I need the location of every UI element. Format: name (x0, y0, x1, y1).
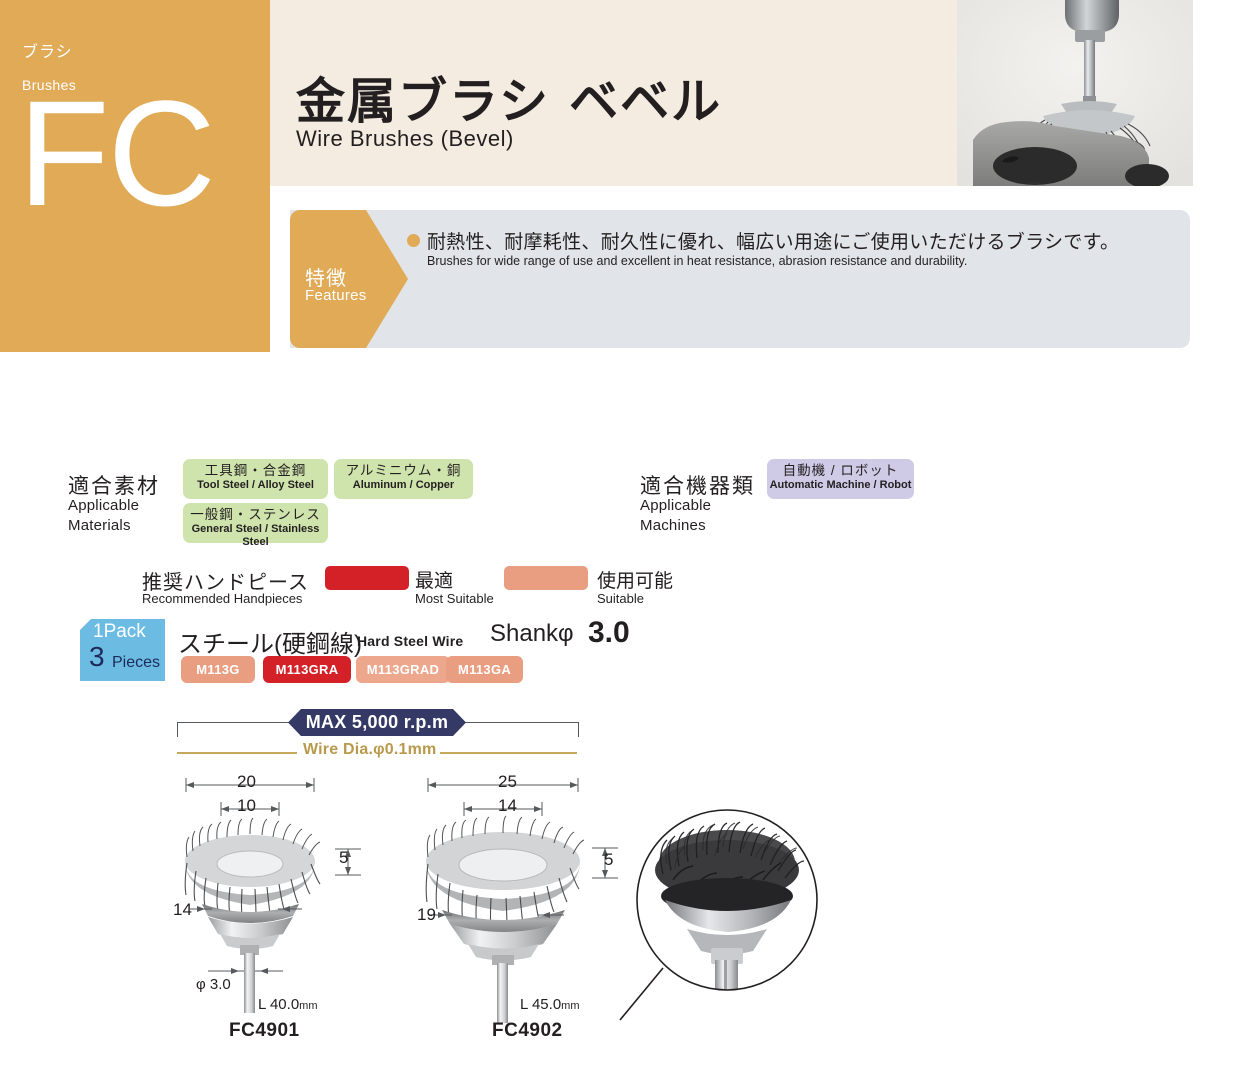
material-chip-en: Tool Steel / Alloy Steel (183, 479, 328, 492)
header-product-photo: ····· (957, 0, 1193, 186)
length-unit: mm (299, 1000, 317, 1012)
feature-text-jp: 耐熱性、耐摩耗性、耐久性に優れ、幅広い用途にご使用いただけるブラシです。 (427, 227, 1119, 254)
length-label: L (258, 996, 266, 1013)
dim-outer-diameter: 20 (237, 772, 256, 792)
legend-label-most-suitable-jp: 最適 (415, 566, 453, 593)
product-name-fc4901: FC4901 (229, 1020, 300, 1042)
product-diagram-fc4901 (160, 765, 390, 1025)
page-title-en: Wire Brushes (Bevel) (296, 126, 514, 152)
pack-unit-label: Pieces (112, 654, 160, 672)
handpiece-model-chip: M113GRA (263, 656, 351, 683)
category-code: FC (18, 78, 214, 228)
handpiece-model-chip: M113GA (446, 656, 523, 683)
applicable-materials-title-en: Applicable Materials (68, 496, 139, 536)
magnified-brush-detail (615, 800, 835, 1030)
machine-chip-en: Automatic Machine / Robot (767, 479, 914, 492)
legend-swatch-suitable (504, 566, 588, 590)
handpieces-title-en: Recommended Handpieces (142, 591, 302, 606)
material-chip-jp: 工具鋼・合金鋼 (183, 463, 328, 479)
wire-diameter-label: Wire Dia.φ0.1mm (303, 741, 436, 759)
material-chip-tool-steel: 工具鋼・合金鋼 Tool Steel / Alloy Steel (183, 459, 328, 499)
pack-count: 3 (89, 643, 105, 671)
phi-symbol: φ (196, 976, 206, 993)
wire-material-jp: スチール(硬鋼線) (178, 624, 362, 659)
dim-total-length: L 45.0mm (520, 996, 580, 1013)
length-label: L (520, 996, 528, 1013)
svg-text:·····: ····· (1027, 179, 1040, 186)
material-chip-en: General Steel / Stainless Steel (183, 523, 328, 549)
material-chip-en: Aluminum / Copper (334, 479, 473, 492)
applicable-materials-title-en-line1: Applicable (68, 496, 139, 516)
machine-chip-jp: 自動機 / ロボット (767, 463, 914, 479)
dim-shank-diameter: φ 3.0 (196, 976, 231, 993)
length-unit: mm (561, 1000, 579, 1012)
product-diagram-fc4902 (410, 765, 640, 1025)
wire-dia-rule-left (177, 752, 297, 754)
dim-inner-diameter: 10 (237, 796, 256, 816)
category-label-jp: ブラシ (22, 38, 73, 62)
wire-dia-rule-right (440, 752, 577, 754)
shank-diameter-label: Shankφ (490, 620, 574, 648)
dim-bristle-height: 5 (339, 848, 348, 868)
product-name-fc4902: FC4902 (492, 1020, 563, 1042)
page-title-jp: 金属ブラシ ベベル (296, 62, 722, 133)
max-rpm-badge: MAX 5,000 r.p.m (288, 709, 466, 736)
features-tag-label-en: Features (305, 287, 367, 304)
dim-total-length-value: 45.0 (532, 996, 561, 1013)
magnifier-leader-line (620, 968, 663, 1020)
brush-in-use-illustration: ····· (957, 0, 1193, 186)
legend-label-suitable-en: Suitable (597, 591, 644, 606)
applicable-machines-title-en-line2: Machines (640, 516, 711, 536)
dim-shank-diameter-value: 3.0 (210, 976, 231, 993)
dim-total-length: L 40.0mm (258, 996, 318, 1013)
material-chip-jp: アルミニウム・銅 (334, 463, 473, 479)
shank-diameter-value: 3.0 (588, 616, 630, 650)
material-chip-jp: 一般鋼・ステンレス (183, 507, 328, 523)
dim-body-length: 14 (173, 900, 192, 920)
wire-material-en: Hard Steel Wire (357, 633, 463, 649)
applicable-machines-title-en: Applicable Machines (640, 496, 711, 536)
legend-label-suitable-jp: 使用可能 (597, 566, 673, 593)
machine-chip-automatic-robot: 自動機 / ロボット Automatic Machine / Robot (767, 459, 914, 499)
material-chip-general-stainless: 一般鋼・ステンレス General Steel / Stainless Stee… (183, 503, 328, 543)
legend-label-most-suitable-en: Most Suitable (415, 591, 494, 606)
bullet-icon (407, 234, 420, 247)
dim-body-length: 19 (417, 905, 436, 925)
handpiece-model-chip: M113G (181, 656, 255, 683)
dim-bristle-height: 5 (604, 850, 613, 870)
applicable-machines-title-en-line1: Applicable (640, 496, 711, 516)
dim-inner-diameter: 14 (498, 796, 517, 816)
handpiece-model-chip: M113GRAD (356, 656, 450, 683)
material-chip-aluminum-copper: アルミニウム・銅 Aluminum / Copper (334, 459, 473, 499)
applicable-materials-title-en-line2: Materials (68, 516, 139, 536)
legend-swatch-most-suitable (325, 566, 409, 590)
feature-text-en: Brushes for wide range of use and excell… (427, 254, 967, 268)
dim-total-length-value: 40.0 (270, 996, 299, 1013)
dim-outer-diameter: 25 (498, 772, 517, 792)
pack-quantity-label: 1Pack (93, 621, 146, 643)
